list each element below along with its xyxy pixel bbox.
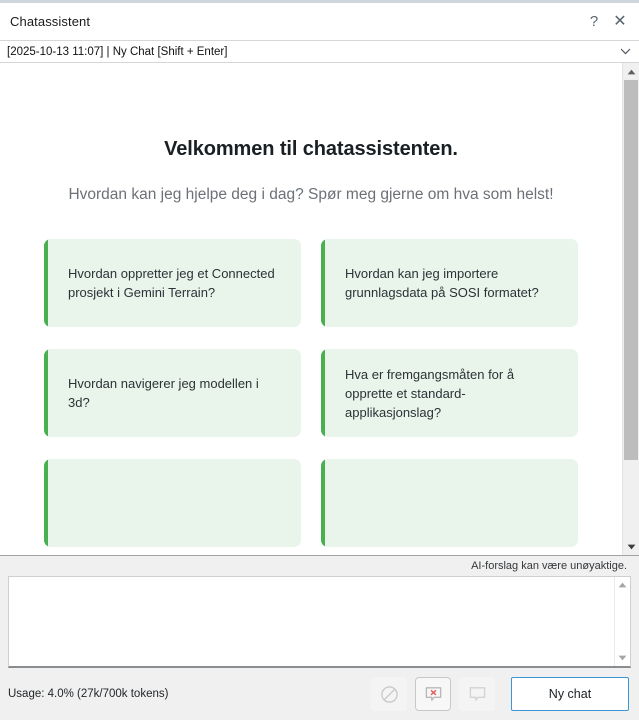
scroll-up-arrow-icon[interactable]	[623, 63, 639, 80]
chat-bubble-delete-icon	[424, 685, 443, 704]
message-area: Velkommen til chatassistenten. Hvordan k…	[0, 63, 639, 555]
new-chat-button[interactable]: Ny chat	[511, 677, 629, 711]
message-input[interactable]	[9, 577, 614, 666]
disclaimer-row: AI-forslag kan være unøyaktige.	[0, 556, 639, 576]
window-title: Chatassistent	[10, 14, 90, 29]
scrollbar-thumb[interactable]	[624, 80, 638, 460]
chat-selector[interactable]: [2025-10-13 11:07] | Ny Chat [Shift + En…	[0, 40, 639, 63]
chat-history-button[interactable]	[459, 677, 495, 711]
chevron-down-icon[interactable]	[617, 44, 633, 60]
title-bar: Chatassistent ? ✕	[0, 0, 639, 40]
suggestion-card[interactable]	[44, 459, 301, 547]
chat-bubble-icon	[468, 685, 487, 704]
suggestion-card-text: Hva er fremgangsmåten for å opprette et …	[345, 365, 560, 423]
suggestion-cards: Hvordan oppretter jeg et Connected prosj…	[24, 239, 598, 547]
message-area-scrollbar[interactable]	[622, 63, 639, 555]
bottom-panel: AI-forslag kan være unøyaktige. Usage: 4…	[0, 555, 639, 720]
suggestion-card[interactable]: Hvordan kan jeg importere grunnlagsdata …	[321, 239, 578, 327]
status-row: Usage: 4.0% (27k/700k tokens)	[0, 668, 639, 720]
chat-selector-value: [2025-10-13 11:07] | Ny Chat [Shift + En…	[7, 46, 617, 58]
suggestion-card-text: Hvordan kan jeg importere grunnlagsdata …	[345, 264, 560, 302]
stop-generation-button[interactable]	[371, 677, 407, 711]
suggestion-card[interactable]	[321, 459, 578, 547]
ban-icon	[380, 685, 399, 704]
close-icon[interactable]: ✕	[607, 9, 633, 35]
message-input-scrollbar[interactable]	[614, 577, 630, 666]
suggestion-card-text: Hvordan oppretter jeg et Connected prosj…	[68, 264, 283, 302]
input-scroll-down-arrow-icon[interactable]	[615, 650, 630, 666]
suggestion-card[interactable]: Hvordan oppretter jeg et Connected prosj…	[44, 239, 301, 327]
suggestion-card[interactable]: Hva er fremgangsmåten for å opprette et …	[321, 349, 578, 437]
delete-chat-button[interactable]	[415, 677, 451, 711]
message-input-wrapper[interactable]	[8, 576, 631, 668]
scroll-down-arrow-icon[interactable]	[623, 538, 639, 555]
help-icon[interactable]: ?	[581, 9, 607, 35]
usage-status: Usage: 4.0% (27k/700k tokens)	[8, 688, 168, 700]
chat-assistant-window: Chatassistent ? ✕ [2025-10-13 11:07] | N…	[0, 0, 639, 720]
ai-disclaimer: AI-forslag kan være unøyaktige.	[471, 560, 627, 572]
suggestion-card[interactable]: Hvordan navigerer jeg modellen i 3d?	[44, 349, 301, 437]
message-area-content: Velkommen til chatassistenten. Hvordan k…	[0, 63, 622, 555]
welcome-subtitle: Hvordan kan jeg hjelpe deg i dag? Spør m…	[24, 184, 598, 206]
input-scroll-up-arrow-icon[interactable]	[615, 577, 630, 593]
welcome-title: Velkommen til chatassistenten.	[24, 138, 598, 161]
suggestion-card-text: Hvordan navigerer jeg modellen i 3d?	[68, 374, 283, 412]
